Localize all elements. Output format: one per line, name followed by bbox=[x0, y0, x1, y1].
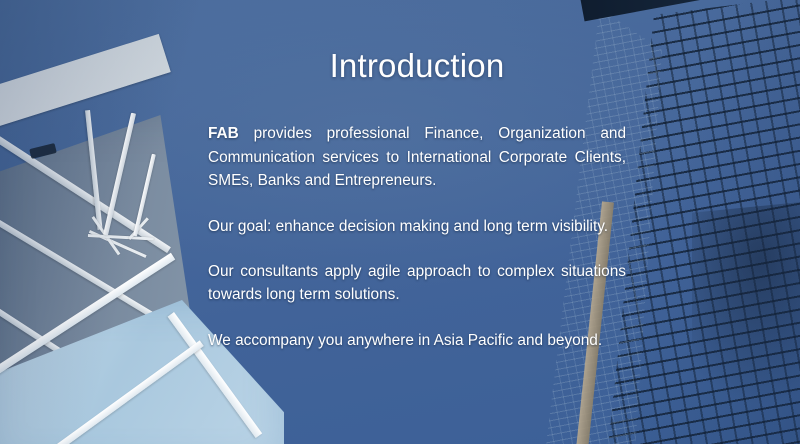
paragraph-text: Our consultants apply agile approach to … bbox=[208, 263, 626, 303]
tower-right-reflection bbox=[692, 196, 800, 406]
paragraph-coverage: We accompany you anywhere in Asia Pacifi… bbox=[208, 329, 626, 352]
page-title: Introduction bbox=[208, 48, 626, 84]
paragraph-text: provides professional Finance, Organizat… bbox=[208, 125, 626, 189]
paragraph-lead-term: FAB bbox=[208, 125, 239, 142]
paragraph-consultants: Our consultants apply agile approach to … bbox=[208, 260, 626, 307]
paragraph-text: Our goal: enhance decision making and lo… bbox=[208, 218, 608, 235]
paragraph-goal: Our goal: enhance decision making and lo… bbox=[208, 215, 626, 238]
presentation-slide: Introduction FAB provides professional F… bbox=[0, 0, 800, 444]
slide-content: Introduction FAB provides professional F… bbox=[208, 48, 626, 352]
paragraph-text: We accompany you anywhere in Asia Pacifi… bbox=[208, 332, 602, 349]
paragraph-intro: FAB provides professional Finance, Organ… bbox=[208, 122, 626, 192]
